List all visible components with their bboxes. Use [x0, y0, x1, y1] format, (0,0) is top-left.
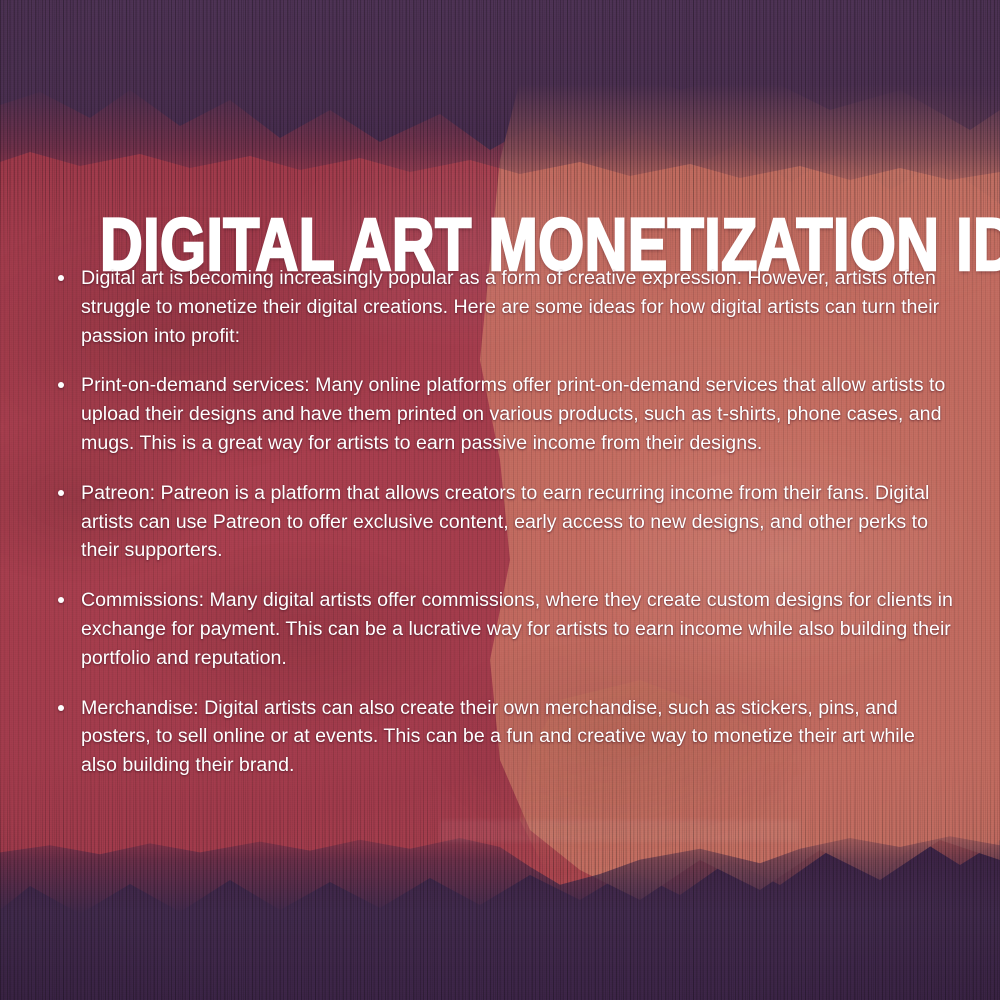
list-item-text: Commissions: Many digital artists offer … — [81, 586, 954, 672]
list-item-text: Patreon: Patreon is a platform that allo… — [81, 479, 954, 565]
idea-list: Digital art is becoming increasingly pop… — [54, 264, 954, 780]
list-item: Merchandise: Digital artists can also cr… — [54, 694, 954, 780]
bullet-dot-icon — [58, 597, 64, 603]
list-item-text: Merchandise: Digital artists can also cr… — [81, 694, 954, 780]
list-item: Print-on-demand services: Many online pl… — [54, 371, 954, 457]
bullet-dot-icon — [58, 382, 64, 388]
bullet-dot-icon — [58, 490, 64, 496]
list-item: Digital art is becoming increasingly pop… — [54, 264, 954, 350]
bullet-dot-icon — [58, 705, 64, 711]
list-item-text: Print-on-demand services: Many online pl… — [81, 371, 954, 457]
list-item-text: Digital art is becoming increasingly pop… — [81, 264, 954, 350]
poster-canvas: Digital Art Monetization Ideas Digital a… — [0, 0, 1000, 1000]
bullet-dot-icon — [58, 275, 64, 281]
list-item: Patreon: Patreon is a platform that allo… — [54, 479, 954, 565]
list-item: Commissions: Many digital artists offer … — [54, 586, 954, 672]
poster-content: Digital Art Monetization Ideas Digital a… — [0, 0, 1000, 1000]
